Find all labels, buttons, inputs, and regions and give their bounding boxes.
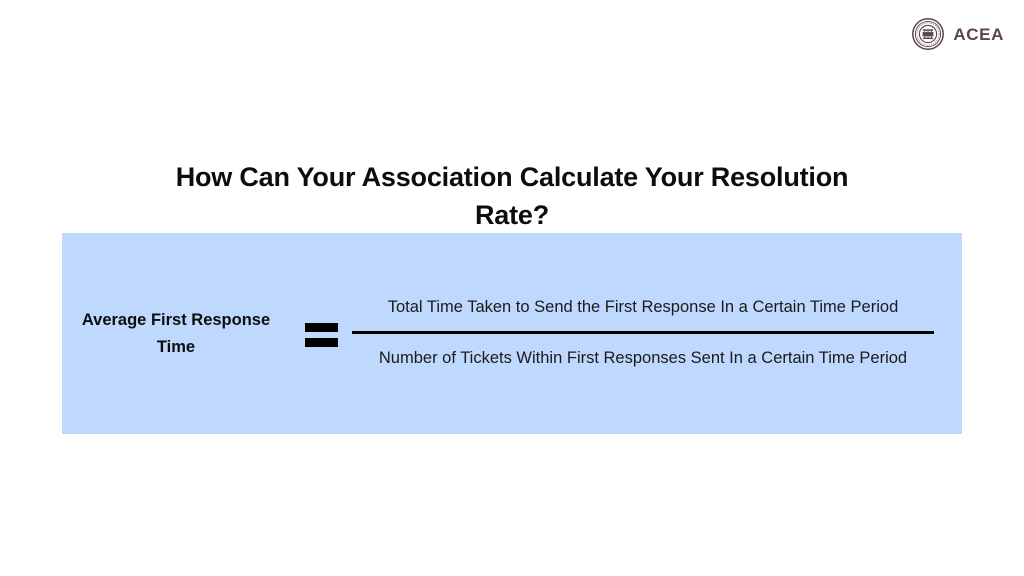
formula-left-term: Average First Response Time bbox=[62, 307, 290, 360]
brand-logo: ACEA bbox=[912, 18, 1004, 50]
acea-seal-icon bbox=[912, 18, 944, 50]
fraction-numerator: Total Time Taken to Send the First Respo… bbox=[352, 294, 934, 322]
fraction-bar bbox=[352, 331, 934, 334]
brand-name: ACEA bbox=[953, 26, 1004, 43]
formula-panel: Average First Response Time Total Time T… bbox=[62, 233, 962, 434]
equals-bar-bottom bbox=[305, 338, 338, 347]
page-title: How Can Your Association Calculate Your … bbox=[160, 158, 864, 235]
fraction-denominator: Number of Tickets Within First Responses… bbox=[352, 345, 934, 373]
equals-icon bbox=[290, 323, 352, 347]
equals-bar-top bbox=[305, 323, 338, 332]
formula-fraction: Total Time Taken to Send the First Respo… bbox=[352, 294, 962, 372]
